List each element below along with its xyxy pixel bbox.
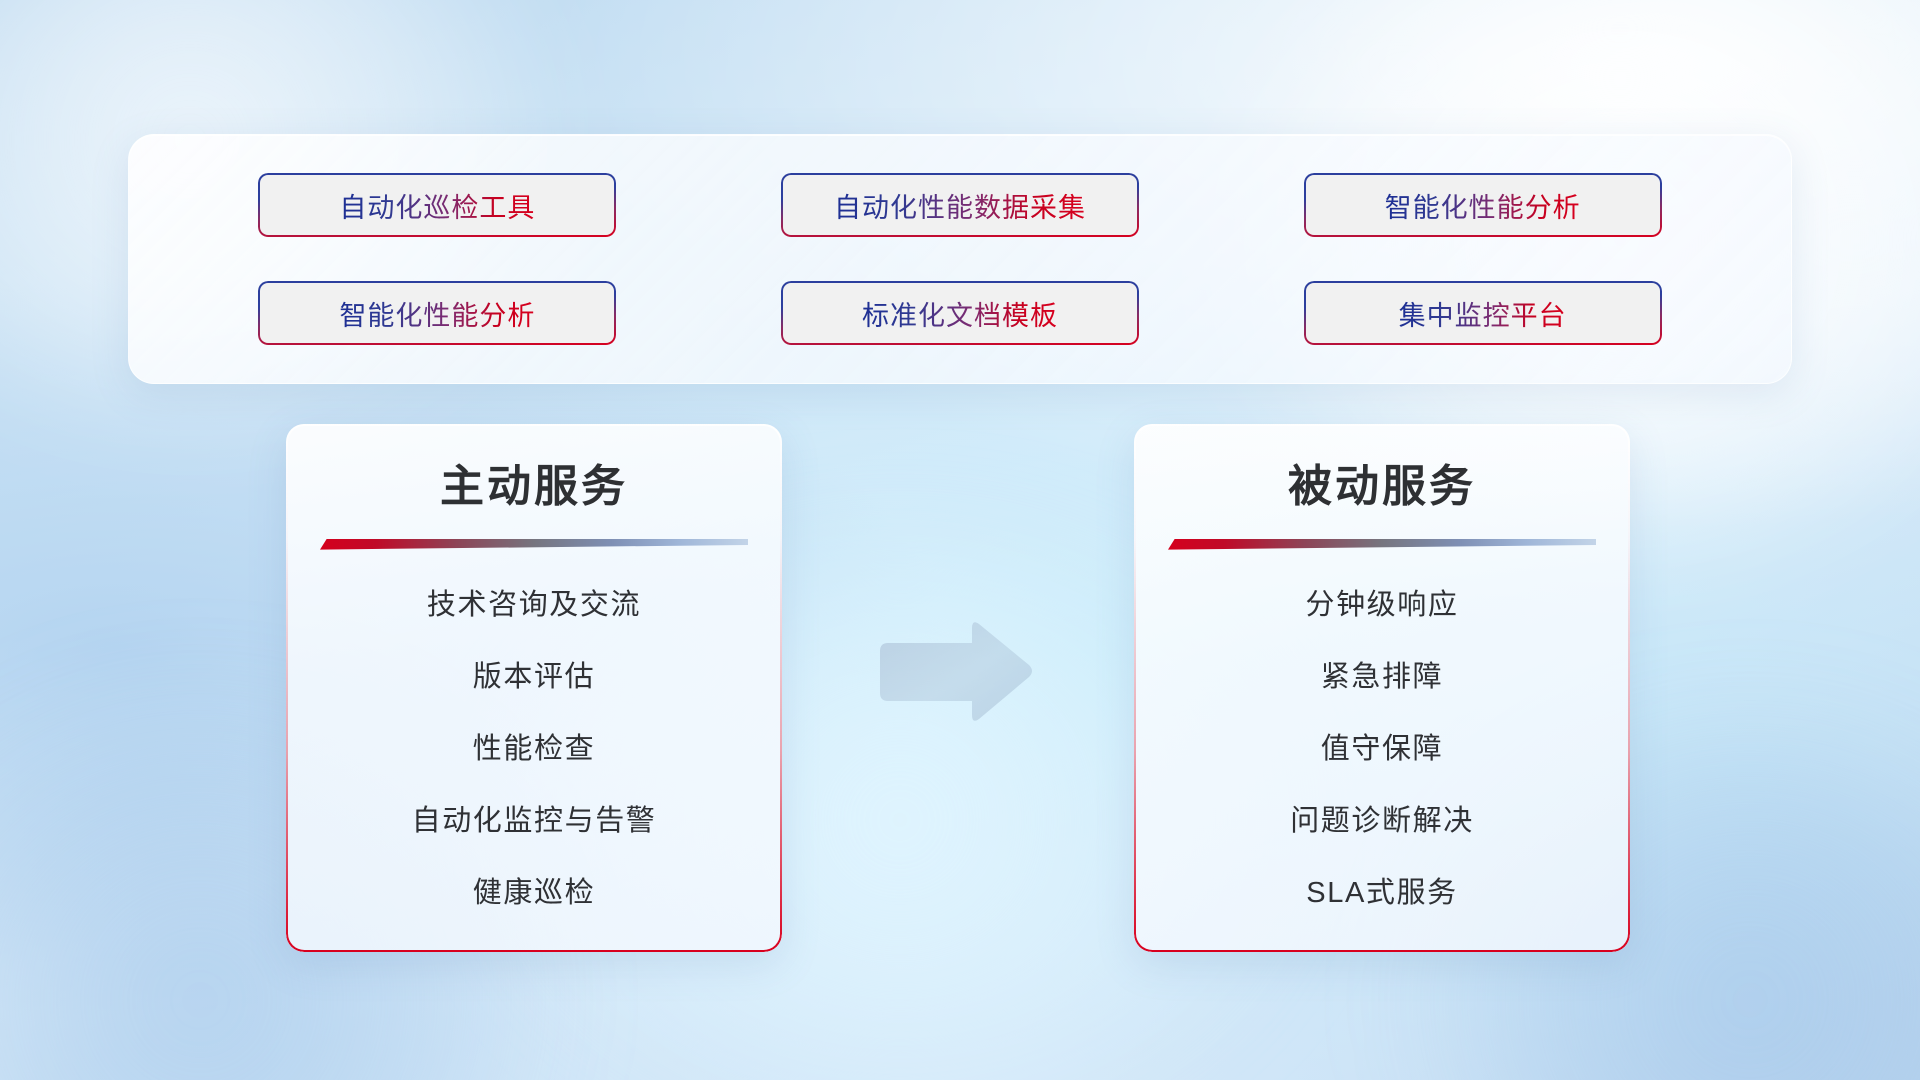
service-card-proactive: 主动服务 技术咨询及交流 版本评估 性能检查 自动化监控与告警 健康巡检	[286, 424, 782, 952]
card-title-proactive: 主动服务	[286, 462, 782, 513]
capability-pill-label: 智能化性能分析	[339, 294, 535, 333]
list-item: SLA式服务	[1134, 879, 1630, 908]
capability-pill-standardized-document-template[interactable]: 标准化文档模板	[781, 281, 1139, 345]
list-item: 分钟级响应	[1134, 591, 1630, 620]
list-item: 值守保障	[1134, 735, 1630, 764]
list-item: 技术咨询及交流	[286, 591, 782, 620]
list-item: 性能检查	[286, 735, 782, 764]
card-title-reactive: 被动服务	[1134, 462, 1630, 513]
capability-pill-centralized-monitoring-platform[interactable]: 集中监控平台	[1304, 281, 1662, 345]
list-item: 紧急排障	[1134, 663, 1630, 692]
list-item: 自动化监控与告警	[286, 807, 782, 836]
service-card-reactive: 被动服务 分钟级响应 紧急排障 值守保障 问题诊断解决 SLA式服务	[1134, 424, 1630, 952]
gradient-rule	[320, 539, 748, 550]
service-list-proactive: 技术咨询及交流 版本评估 性能检查 自动化监控与告警 健康巡检	[286, 591, 782, 908]
card-divider-reactive	[1168, 539, 1596, 551]
gradient-rule	[1168, 539, 1596, 550]
capabilities-panel: 自动化巡检工具 自动化性能数据采集 智能化性能分析 智能化性能分析 标准化文档模…	[128, 134, 1792, 384]
list-item: 版本评估	[286, 663, 782, 692]
capability-pill-intelligent-performance-analysis-top[interactable]: 智能化性能分析	[1304, 173, 1662, 237]
list-item: 健康巡检	[286, 879, 782, 908]
capability-pill-label: 自动化巡检工具	[339, 186, 535, 225]
list-item: 问题诊断解决	[1134, 807, 1630, 836]
slide-canvas: 自动化巡检工具 自动化性能数据采集 智能化性能分析 智能化性能分析 标准化文档模…	[0, 0, 1920, 1080]
card-divider-proactive	[320, 539, 748, 551]
service-list-reactive: 分钟级响应 紧急排障 值守保障 问题诊断解决 SLA式服务	[1134, 591, 1630, 908]
capability-pill-label: 智能化性能分析	[1385, 186, 1581, 225]
capability-pill-automated-performance-data-collection[interactable]: 自动化性能数据采集	[781, 173, 1139, 237]
capability-pill-automated-inspection-tool[interactable]: 自动化巡检工具	[258, 173, 616, 237]
arrow-right-icon	[874, 618, 1036, 726]
capability-pill-label: 集中监控平台	[1399, 294, 1567, 333]
capability-pill-intelligent-performance-analysis-bottom[interactable]: 智能化性能分析	[258, 281, 616, 345]
capability-pill-label: 标准化文档模板	[862, 294, 1058, 333]
capability-pill-label: 自动化性能数据采集	[834, 186, 1086, 225]
